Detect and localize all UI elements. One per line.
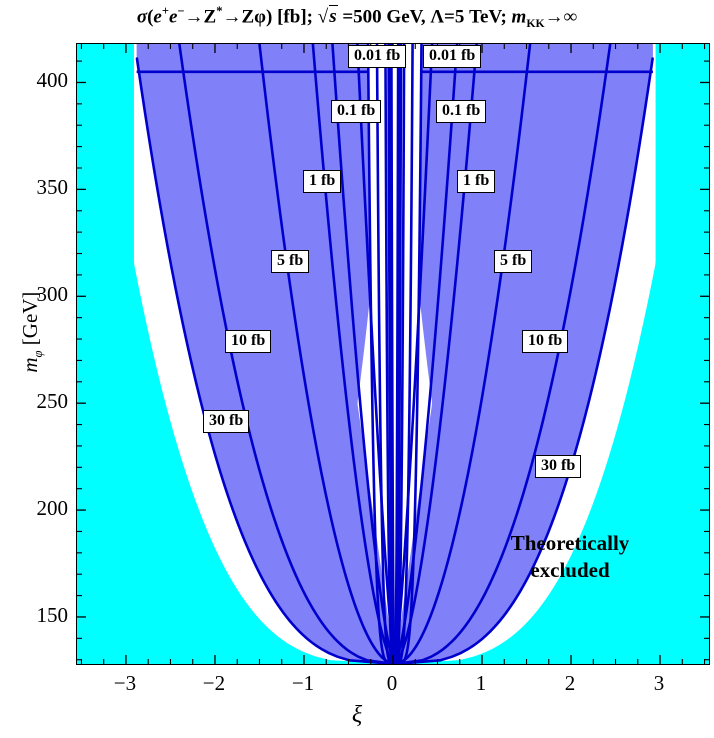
title-sqrt-s: s — [329, 5, 337, 27]
contour-label: 30 fb — [535, 455, 581, 478]
x-tick-label: 0 — [368, 671, 416, 696]
page-title: σ(e+e−→Z*→Zφ) [fb]; √s =500 GeV, Λ=5 TeV… — [0, 4, 714, 31]
title-paren-close: ) — [266, 6, 272, 27]
title-sigma: σ — [137, 6, 147, 27]
excluded-note-line-1: Theoretically — [470, 530, 670, 557]
title-zphi: Zφ — [242, 6, 267, 27]
title-mkk-m: m — [512, 6, 527, 27]
y-tick-label: 300 — [10, 282, 68, 307]
x-tick-label: −1 — [279, 671, 327, 696]
title-energy: =500 GeV, — [342, 6, 425, 27]
y-axis-label: mφ [GeV] — [18, 252, 46, 412]
contour-label: 10 fb — [225, 330, 271, 353]
x-tick-label: 2 — [546, 671, 594, 696]
contour-label: 1 fb — [303, 170, 341, 193]
y-axis-label-m: m — [18, 357, 42, 372]
contour-label: 10 fb — [522, 330, 568, 353]
title-arrow-1: → — [185, 6, 204, 27]
title-lambda-value: =5 TeV; — [444, 6, 507, 27]
title-units: [fb]; — [277, 6, 313, 27]
title-minus: − — [177, 4, 184, 18]
y-tick-label: 200 — [10, 496, 68, 521]
title-arrow-2: → — [223, 6, 242, 27]
contour-plot-figure: σ(e+e−→Z*→Zφ) [fb]; √s =500 GeV, Λ=5 TeV… — [0, 0, 714, 738]
x-axis-label: ξ — [0, 702, 714, 729]
contour-label: 5 fb — [494, 250, 532, 273]
title-mkk-limit: →∞ — [545, 6, 578, 27]
y-tick-label: 250 — [10, 389, 68, 414]
title-plus: + — [162, 4, 169, 18]
title-lambda-symbol: Λ — [430, 6, 444, 27]
theoretically-excluded-note: Theoretically excluded — [470, 530, 670, 584]
x-tick-label: 3 — [635, 671, 683, 696]
x-tick-label: 1 — [457, 671, 505, 696]
contour-label: 0.1 fb — [436, 100, 486, 123]
title-zstar: Z — [204, 6, 217, 27]
contour-label: 0.01 fb — [423, 45, 481, 68]
contour-label: 0.1 fb — [331, 100, 381, 123]
excluded-note-line-2: excluded — [470, 557, 670, 584]
contour-label: 30 fb — [203, 410, 249, 433]
contour-label: 1 fb — [457, 170, 495, 193]
contour-label: 5 fb — [271, 250, 309, 273]
title-mkk-subscript: KK — [526, 17, 544, 30]
y-axis-label-phi: φ — [31, 350, 45, 357]
y-tick-label: 400 — [10, 68, 68, 93]
y-tick-label: 150 — [10, 603, 68, 628]
y-tick-label: 350 — [10, 175, 68, 200]
title-sqrt-symbol: √ — [318, 6, 328, 27]
title-electron: e — [153, 6, 161, 27]
x-tick-label: −2 — [190, 671, 238, 696]
x-tick-label: −3 — [101, 671, 149, 696]
contour-label: 0.01 fb — [348, 45, 406, 68]
